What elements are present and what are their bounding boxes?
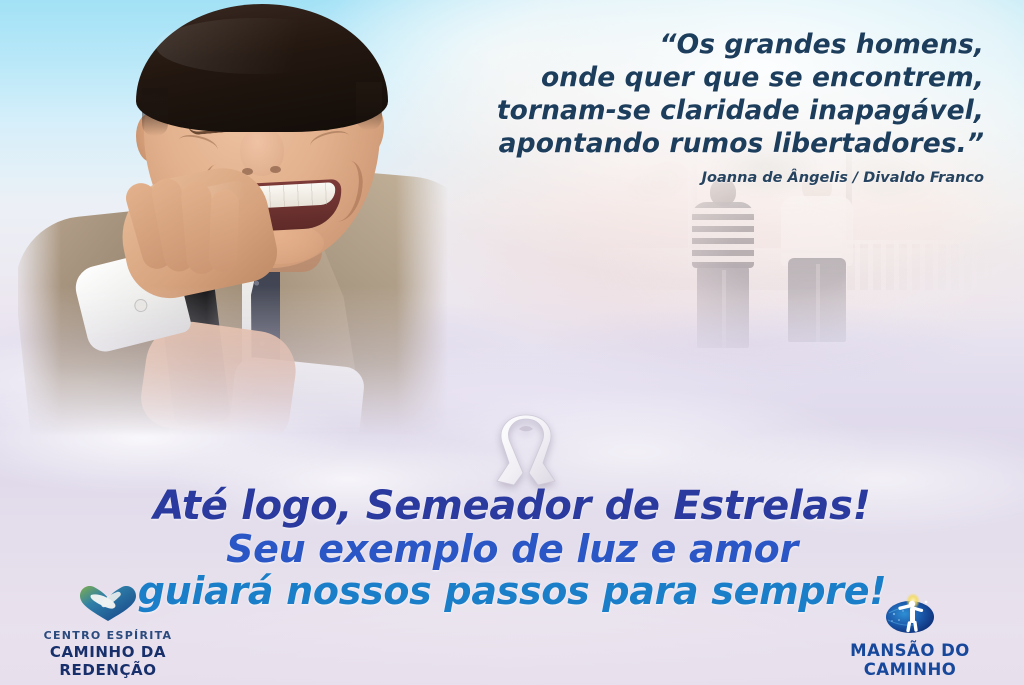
logo-centro-espirita-caminho-da-redencao[interactable]: CENTRO ESPÍRITA CAMINHO DA REDENÇÃO: [0, 583, 216, 679]
logo-right-line-1: MANSÃO DO CAMINHO: [802, 641, 1018, 679]
quote-text: “Os grandes homens, onde quer que se enc…: [444, 28, 984, 160]
logo-mansao-do-caminho[interactable]: MANSÃO DO CAMINHO: [802, 593, 1018, 679]
quote-line-1: “Os grandes homens,: [444, 28, 984, 61]
person-torso: [692, 202, 754, 268]
quote-line-2: onde quer que se encontrem,: [444, 61, 984, 94]
memorial-poster: “Os grandes homens, onde quer que se enc…: [0, 0, 1024, 685]
background-person-striped-shirt: [688, 178, 758, 353]
heart-hands-icon: [0, 583, 216, 627]
quote-attribution: Joanna de Ângelis / Divaldo Franco: [444, 170, 984, 186]
background-photo-two-people-walking: [560, 120, 1024, 420]
portrait-divaldo-franco: [18, 0, 448, 436]
headline-line-1: Até logo, Semeador de Estrelas!: [0, 486, 1024, 527]
person-legs: [788, 258, 846, 342]
headline-line-2: Seu exemplo de luz e amor: [0, 530, 1024, 569]
sideburn-left: [142, 88, 168, 136]
logo-left-line-2: CAMINHO DA REDENÇÃO: [0, 643, 216, 679]
quote-line-4: apontando rumos libertadores.”: [444, 127, 984, 160]
background-person-white-shirt: [778, 172, 856, 354]
person-torso: [781, 196, 853, 266]
logo-left-line-1: CENTRO ESPÍRITA: [0, 629, 216, 642]
quote-line-3: tornam-se claridade inapagável,: [444, 94, 984, 127]
hair: [136, 4, 388, 132]
mourning-ribbon-icon: [489, 411, 563, 489]
globe-figure-icon: [802, 593, 1018, 639]
sideburn-right: [356, 82, 382, 130]
nostril-right: [270, 166, 281, 173]
portrait-fade-mask: [18, 0, 448, 436]
person-legs: [697, 264, 749, 348]
finger: [209, 190, 240, 273]
